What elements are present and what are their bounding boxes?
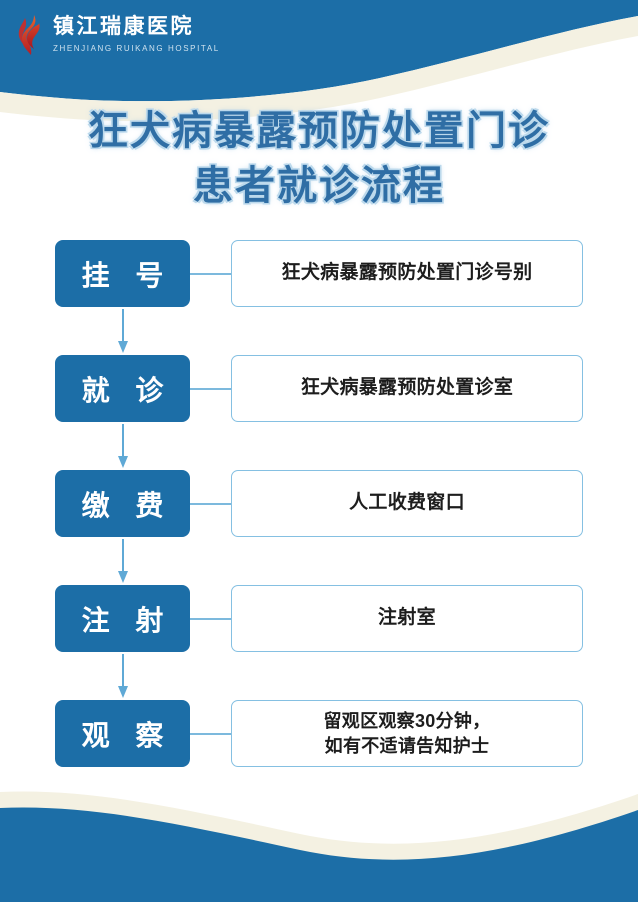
step-box-1: 挂 号 bbox=[55, 240, 190, 307]
flow-step-1: 挂 号 狂犬病暴露预防处置门诊号别 bbox=[0, 240, 638, 307]
detail-text-4: 注射室 bbox=[378, 605, 436, 631]
detail-text-2: 狂犬病暴露预防处置诊室 bbox=[301, 375, 513, 401]
detail-text-5: 留观区观察30分钟， 如有不适请告知护士 bbox=[323, 709, 490, 759]
hospital-name-en: ZHENJIANG RUIKANG HOSPITAL bbox=[53, 43, 220, 55]
detail-box-3: 人工收费窗口 bbox=[231, 470, 583, 537]
flow-step-3: 缴 费 人工收费窗口 bbox=[0, 470, 638, 537]
step-label-4: 注 射 bbox=[73, 599, 173, 639]
brand-lockup: 镇江瑞康医院 ZHENJIANG RUIKANG HOSPITAL bbox=[18, 14, 220, 56]
step-box-2: 就 诊 bbox=[55, 355, 190, 422]
flow-step-2: 就 诊 狂犬病暴露预防处置诊室 bbox=[0, 355, 638, 422]
connector-line-2 bbox=[190, 388, 232, 390]
arrow-down-icon-2 bbox=[117, 422, 129, 470]
step-label-2: 就 诊 bbox=[73, 369, 173, 409]
arrow-down-icon-1 bbox=[117, 307, 129, 355]
poster-canvas: 镇江瑞康医院 ZHENJIANG RUIKANG HOSPITAL 狂犬病暴露预… bbox=[0, 0, 638, 902]
detail-box-4: 注射室 bbox=[231, 585, 583, 652]
arrow-down-icon-3 bbox=[117, 537, 129, 585]
step-label-3: 缴 费 bbox=[73, 484, 173, 524]
flow-step-4: 注 射 注射室 bbox=[0, 585, 638, 652]
step-box-3: 缴 费 bbox=[55, 470, 190, 537]
connector-line-5 bbox=[190, 733, 232, 735]
arrow-down-icon-4 bbox=[117, 652, 129, 700]
connector-line-1 bbox=[190, 273, 232, 275]
step-box-4: 注 射 bbox=[55, 585, 190, 652]
detail-text-1: 狂犬病暴露预防处置门诊号别 bbox=[282, 260, 533, 286]
flow-step-5: 观 察 留观区观察30分钟， 如有不适请告知护士 bbox=[0, 700, 638, 767]
flame-ribbon-logo-icon bbox=[18, 14, 44, 56]
detail-box-5: 留观区观察30分钟， 如有不适请告知护士 bbox=[231, 700, 583, 767]
page-title-line-1: 狂犬病暴露预防处置门诊 bbox=[0, 104, 638, 159]
detail-box-1: 狂犬病暴露预防处置门诊号别 bbox=[231, 240, 583, 307]
hospital-name-cn: 镇江瑞康医院 bbox=[53, 15, 220, 39]
step-box-5: 观 察 bbox=[55, 700, 190, 767]
brand-text: 镇江瑞康医院 ZHENJIANG RUIKANG HOSPITAL bbox=[53, 15, 220, 54]
connector-line-4 bbox=[190, 618, 232, 620]
page-title-line-2: 患者就诊流程 bbox=[0, 159, 638, 214]
patient-flow-diagram: 挂 号 狂犬病暴露预防处置门诊号别 就 诊 狂犬病暴露预防处置诊室 bbox=[0, 240, 638, 767]
page-title: 狂犬病暴露预防处置门诊 患者就诊流程 bbox=[0, 104, 638, 214]
step-label-1: 挂 号 bbox=[73, 254, 173, 294]
detail-box-2: 狂犬病暴露预防处置诊室 bbox=[231, 355, 583, 422]
detail-text-3: 人工收费窗口 bbox=[349, 490, 465, 516]
connector-line-3 bbox=[190, 503, 232, 505]
step-label-5: 观 察 bbox=[73, 714, 173, 754]
